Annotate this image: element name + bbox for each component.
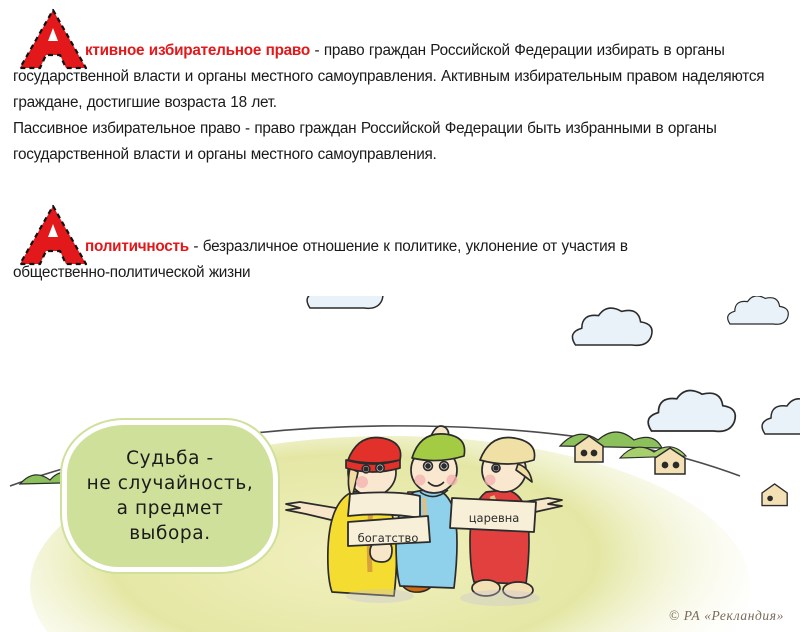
entry-2-definition-first: безразличное отношение к политике, уклон… <box>203 238 628 255</box>
entry-1-line-2: государственной власти и органы местного… <box>13 64 788 90</box>
poster-page: ктивное избирательное право - право граж… <box>0 0 800 632</box>
entry-2-line-2: общественно-политической жизни <box>13 260 788 286</box>
quote-bubble: Судьба - не случайность, а предмет выбор… <box>62 420 278 572</box>
copyright-notice: © РА «Рекландия» <box>669 608 784 624</box>
entry-1-text-block: ктивное избирательное право - право граж… <box>13 38 788 168</box>
entry-1-line-5: государственной власти и органы местного… <box>13 142 788 168</box>
entry-1-term: ктивное избирательное право <box>85 42 310 59</box>
entry-1-definition-first: право граждан Российской Федерации избир… <box>324 42 725 59</box>
entry-1-line-1: ктивное избирательное право - право граж… <box>13 38 788 64</box>
quote-line-1: Судьба - <box>126 446 214 471</box>
entry-2-text-block: политичность - безразличное отношение к … <box>13 234 788 286</box>
quote-bubble-text: Судьба - не случайность, а предмет выбор… <box>62 420 278 572</box>
sign-label-tsarevna: царевна <box>469 511 520 525</box>
entry-1-line-3: граждане, достигшие возраста 18 лет. <box>13 90 788 116</box>
entry-2-line-1: политичность - безразличное отношение к … <box>13 234 788 260</box>
entry-2-term: политичность <box>85 238 189 255</box>
quote-line-2: не случайность, <box>87 471 254 496</box>
entry-2-dash: - <box>189 238 203 255</box>
quote-line-3: а предмет <box>117 496 224 521</box>
sign-tsarevna: царевна <box>450 498 536 532</box>
entry-1-line-4: Пассивное избирательное право - право гр… <box>13 116 788 142</box>
sign-label-bogatstvo: богатство <box>358 531 419 545</box>
quote-line-4: выбора. <box>129 521 210 546</box>
entry-1-dash: - <box>310 42 324 59</box>
